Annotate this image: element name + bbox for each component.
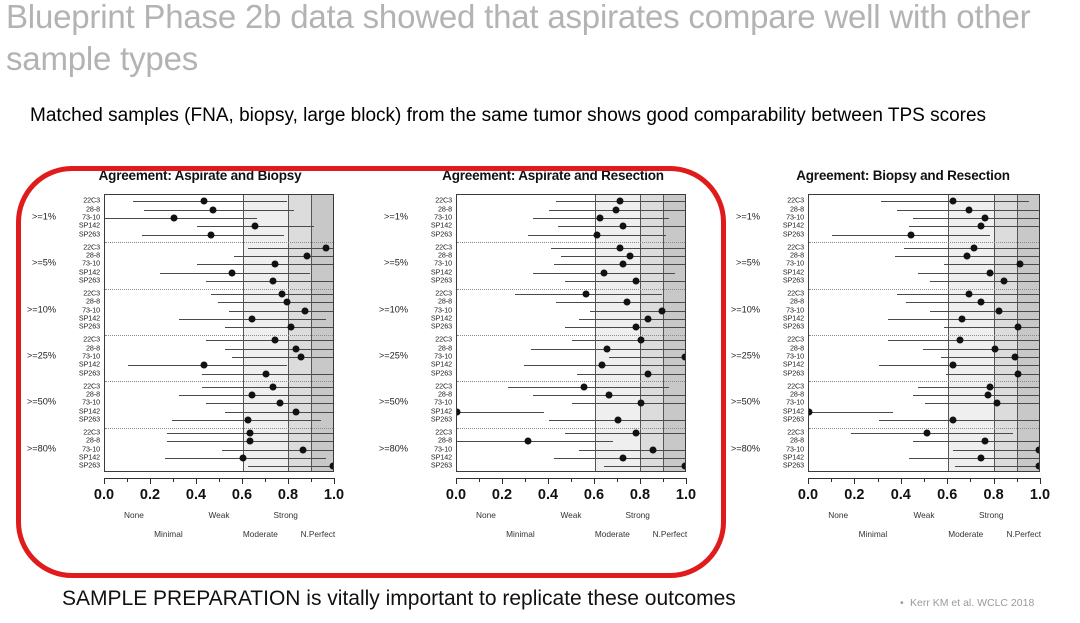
confidence-interval-line (206, 340, 334, 341)
assay-label: 73-10 (58, 399, 100, 406)
axis-tick-minor (127, 478, 128, 482)
confidence-interval-line (248, 248, 334, 249)
assay-label: SP263 (58, 323, 100, 330)
assay-label: 28-8 (762, 344, 804, 351)
confidence-interval-line (909, 226, 1040, 227)
estimate-point (596, 214, 603, 221)
estimate-point (991, 345, 998, 352)
assay-label: SP142 (58, 268, 100, 275)
estimate-point (1012, 353, 1019, 360)
plot-area (456, 194, 686, 472)
axis-tick-label: 0.4 (891, 487, 911, 503)
group-separator (809, 242, 1039, 243)
moderate-band (948, 195, 994, 471)
estimate-point (246, 438, 253, 445)
assay-label: SP263 (410, 369, 452, 376)
estimate-point (619, 261, 626, 268)
axis-tick-label: 0.0 (798, 487, 818, 503)
chart-panel-1: Agreement: Aspirate and Biopsy22C328-873… (20, 168, 380, 568)
confidence-interval-line (577, 374, 686, 375)
assay-label: 73-10 (762, 399, 804, 406)
assay-label: 73-10 (410, 213, 452, 220)
axis-tick-label: 0.8 (630, 487, 650, 503)
confidence-interval-line (508, 387, 669, 388)
axis-tick-label: 0.4 (186, 487, 206, 503)
confidence-interval-line (211, 294, 334, 295)
estimate-point (580, 383, 587, 390)
confidence-interval-line (197, 264, 334, 265)
axis-tick-minor (617, 478, 618, 482)
assay-label: 73-10 (762, 213, 804, 220)
estimate-point (603, 345, 610, 352)
confidence-interval-line (234, 256, 334, 257)
estimate-point (982, 438, 989, 445)
confidence-interval-line (579, 450, 686, 451)
estimate-point (963, 252, 970, 259)
axis-tick-label: 0.6 (937, 487, 957, 503)
assay-label: 28-8 (58, 344, 100, 351)
estimate-point (1035, 463, 1040, 470)
confidence-interval-line (930, 281, 1040, 282)
axis-tick-major (502, 478, 503, 484)
panel-title: Agreement: Aspirate and Biopsy (20, 168, 380, 183)
assay-label: SP263 (410, 415, 452, 422)
estimate-point (615, 416, 622, 423)
estimate-point (612, 206, 619, 213)
confidence-interval-line (944, 327, 1040, 328)
assay-label: 22C3 (58, 289, 100, 296)
assay-label: 28-8 (410, 437, 452, 444)
confidence-interval-line (930, 311, 1040, 312)
agreement-category-label: None (828, 510, 848, 520)
confidence-interval-line (202, 387, 334, 388)
assay-label: 22C3 (410, 382, 452, 389)
confidence-interval-line (879, 365, 1040, 366)
estimate-point (644, 370, 651, 377)
confidence-interval-line (248, 466, 334, 467)
axis-tick-major (196, 478, 197, 484)
estimate-point (292, 345, 299, 352)
agreement-category-label: Moderate (243, 529, 278, 539)
agreement-category-label: None (124, 510, 144, 520)
confidence-interval-line (913, 218, 1040, 219)
estimate-point (329, 463, 334, 470)
assay-label: SP263 (58, 462, 100, 469)
confidence-interval-line (225, 349, 334, 350)
estimate-point (601, 269, 608, 276)
estimate-point (982, 214, 989, 221)
assay-label: SP142 (58, 222, 100, 229)
estimate-point (200, 362, 207, 369)
estimate-point (633, 324, 640, 331)
near-perfect-band (1018, 195, 1040, 471)
estimate-point (456, 408, 461, 415)
confidence-interval-line (609, 357, 686, 358)
agreement-category-label: Strong (979, 510, 1003, 520)
assay-label: 22C3 (762, 336, 804, 343)
estimate-point (959, 315, 966, 322)
assay-label: 73-10 (410, 306, 452, 313)
confidence-interval-line (923, 349, 1040, 350)
assay-label: SP263 (762, 230, 804, 237)
estimate-point (1017, 261, 1024, 268)
group-separator (809, 428, 1039, 429)
confidence-interval-line (604, 466, 686, 467)
axis-tick-minor (663, 478, 664, 482)
assay-label: 22C3 (410, 197, 452, 204)
confidence-interval-line (925, 403, 1040, 404)
axis-tick-major (994, 478, 995, 484)
assay-label: 73-10 (410, 260, 452, 267)
assay-label: 28-8 (58, 390, 100, 397)
assay-label: 73-10 (762, 306, 804, 313)
estimate-point (949, 416, 956, 423)
estimate-point (228, 269, 235, 276)
assay-label: SP263 (762, 276, 804, 283)
assay-label: 73-10 (762, 352, 804, 359)
estimate-point (986, 383, 993, 390)
group-separator (809, 381, 1039, 382)
assay-label: SP263 (762, 323, 804, 330)
assay-label: SP142 (762, 453, 804, 460)
estimate-point (1014, 370, 1021, 377)
axis-tick-label: 1.0 (324, 487, 344, 503)
group-separator (457, 242, 685, 243)
panel-title: Agreement: Aspirate and Resection (378, 168, 728, 183)
axis-tick-label: 1.0 (676, 487, 696, 503)
group-separator (457, 289, 685, 290)
estimate-point (977, 299, 984, 306)
axis-tick-major (288, 478, 289, 484)
estimate-point (272, 337, 279, 344)
cutoff-group-label: >=80% (716, 444, 760, 453)
group-separator (105, 335, 333, 336)
confidence-interval-line (218, 302, 334, 303)
assay-label: 28-8 (762, 205, 804, 212)
agreement-category-label: None (476, 510, 496, 520)
axis-tick-major (334, 478, 335, 484)
page-title: Blueprint Phase 2b data showed that aspi… (6, 0, 1076, 80)
assay-label: 22C3 (58, 197, 100, 204)
assay-label: SP142 (410, 453, 452, 460)
cutoff-group-label: >=10% (716, 305, 760, 314)
assay-label: 22C3 (762, 289, 804, 296)
cutoff-group-label: >=25% (716, 351, 760, 360)
assay-label: 22C3 (58, 382, 100, 389)
cutoff-group-label: >=50% (364, 398, 408, 407)
assay-label: 28-8 (58, 205, 100, 212)
agreement-category-label: Minimal (506, 529, 535, 539)
bullet-icon: • (900, 596, 910, 610)
near-perfect-band (312, 195, 334, 471)
estimate-point (279, 290, 286, 297)
assay-label: 73-10 (410, 399, 452, 406)
estimate-point (633, 277, 640, 284)
estimate-point (966, 290, 973, 297)
assay-label: 28-8 (58, 251, 100, 258)
estimate-point (977, 223, 984, 230)
estimate-point (246, 429, 253, 436)
confidence-interval-line (144, 210, 294, 211)
cutoff-group-label: >=80% (364, 444, 408, 453)
axis-tick-major (854, 478, 855, 484)
assay-label: 22C3 (410, 428, 452, 435)
agreement-category-label: N.Perfect (653, 529, 688, 539)
estimate-point (249, 315, 256, 322)
estimate-point (949, 198, 956, 205)
axis-tick-minor (831, 478, 832, 482)
assay-label: 28-8 (410, 298, 452, 305)
agreement-category-label: Weak (560, 510, 581, 520)
estimate-point (649, 446, 656, 453)
plot-area (808, 194, 1040, 472)
estimate-point (288, 324, 295, 331)
estimate-point (582, 290, 589, 297)
assay-label: 28-8 (58, 437, 100, 444)
confidence-interval-line (944, 264, 1040, 265)
confidence-interval-line (851, 433, 1013, 434)
axis-tick-label: 0.8 (984, 487, 1004, 503)
agreement-category-label: N.Perfect (301, 529, 336, 539)
assay-label: SP263 (410, 323, 452, 330)
estimate-point (949, 362, 956, 369)
assay-label: SP142 (762, 222, 804, 229)
axis-tick-minor (311, 478, 312, 482)
confidence-interval-line (572, 403, 686, 404)
axis-tick-minor (571, 478, 572, 482)
confidence-interval-line (913, 441, 1040, 442)
confidence-interval-line (918, 273, 1040, 274)
assay-label: 73-10 (58, 213, 100, 220)
confidence-interval-line (232, 357, 335, 358)
chart-panel-3: Agreement: Biopsy and Resection22C328-87… (728, 168, 1078, 568)
assay-label: SP142 (58, 314, 100, 321)
estimate-point (638, 400, 645, 407)
assay-label: 22C3 (58, 428, 100, 435)
assay-label: SP142 (58, 361, 100, 368)
group-separator (105, 428, 333, 429)
estimate-point (605, 391, 612, 398)
confidence-interval-line (953, 450, 1040, 451)
cutoff-group-label: >=25% (364, 351, 408, 360)
axis-tick-label: 0.0 (446, 487, 466, 503)
assay-label: SP263 (410, 276, 452, 283)
confidence-interval-line (579, 319, 686, 320)
axis-tick-minor (924, 478, 925, 482)
confidence-interval-line (590, 311, 686, 312)
confidence-interval-line (906, 302, 1040, 303)
estimate-point (966, 206, 973, 213)
estimate-point (1035, 446, 1040, 453)
axis-tick-minor (878, 478, 879, 482)
axis-tick-label: 0.0 (94, 487, 114, 503)
near-perfect-band (664, 195, 686, 471)
axis-tick-label: 1.0 (1030, 487, 1050, 503)
confidence-interval-line (105, 218, 257, 219)
axis-tick-major (1040, 478, 1041, 484)
confidence-interval-line (918, 387, 1040, 388)
assay-label: SP142 (410, 314, 452, 321)
agreement-category-label: N.Perfect (1006, 529, 1041, 539)
group-separator (809, 335, 1039, 336)
confidence-interval-line (222, 450, 334, 451)
confidence-interval-line (179, 395, 334, 396)
assay-label: SP263 (58, 415, 100, 422)
agreement-category-label: Minimal (154, 529, 183, 539)
assay-label: 28-8 (58, 298, 100, 305)
axis-tick-label: 0.6 (232, 487, 252, 503)
strong-band (641, 195, 664, 471)
assay-label: 28-8 (410, 344, 452, 351)
group-separator (809, 289, 1039, 290)
panel-title: Agreement: Biopsy and Resection (728, 168, 1078, 183)
estimate-point (299, 446, 306, 453)
estimate-point (200, 198, 207, 205)
estimate-point (171, 214, 178, 221)
assay-label: 28-8 (762, 298, 804, 305)
axis-tick-label: 0.6 (584, 487, 604, 503)
estimate-point (322, 244, 329, 251)
assay-label: 73-10 (762, 445, 804, 452)
estimate-point (908, 231, 915, 238)
group-separator (457, 335, 685, 336)
confidence-interval-line (888, 340, 1040, 341)
assay-label: SP142 (762, 314, 804, 321)
cutoff-group-label: >=10% (12, 305, 56, 314)
confidence-interval-line (913, 395, 1040, 396)
assay-label: SP263 (762, 462, 804, 469)
estimate-point (984, 391, 991, 398)
estimate-point (681, 463, 686, 470)
assay-label: SP142 (762, 361, 804, 368)
confidence-interval-line (225, 327, 334, 328)
axis-tick-major (456, 478, 457, 484)
estimate-point (626, 252, 633, 259)
slide-subtitle: Matched samples (FNA, biopsy, large bloc… (30, 102, 1070, 129)
cutoff-group-label: >=10% (364, 305, 408, 314)
estimate-point (681, 353, 686, 360)
confidence-interval-line (133, 201, 287, 202)
axis-tick-major (901, 478, 902, 484)
cutoff-group-label: >=25% (12, 351, 56, 360)
axis-tick-major (686, 478, 687, 484)
confidence-interval-line (229, 311, 334, 312)
confidence-interval-line (809, 412, 893, 413)
confidence-interval-line (556, 302, 686, 303)
assay-label: 73-10 (410, 445, 452, 452)
estimate-point (1000, 277, 1007, 284)
confidence-interval-line (946, 374, 1040, 375)
axis-tick-major (594, 478, 595, 484)
agreement-category-label: Minimal (859, 529, 888, 539)
estimate-point (619, 454, 626, 461)
axis-tick-minor (173, 478, 174, 482)
strong-band (995, 195, 1018, 471)
estimate-point (624, 299, 631, 306)
estimate-point (977, 454, 984, 461)
assay-label: 22C3 (410, 243, 452, 250)
assay-label: 22C3 (762, 197, 804, 204)
confidence-interval-line (565, 281, 686, 282)
assay-label: 28-8 (410, 390, 452, 397)
cutoff-group-label: >=1% (364, 212, 408, 221)
estimate-point (633, 429, 640, 436)
confidence-interval-line (457, 441, 613, 442)
estimate-point (276, 400, 283, 407)
cutoff-group-label: >=1% (716, 212, 760, 221)
estimate-point (996, 307, 1003, 314)
estimate-point (594, 231, 601, 238)
axis-tick-label: 0.2 (844, 487, 864, 503)
confidence-interval-line (565, 327, 686, 328)
assay-label: SP263 (762, 415, 804, 422)
axis-tick-minor (970, 478, 971, 482)
axis-tick-label: 0.2 (492, 487, 512, 503)
confidence-interval-line (225, 412, 334, 413)
group-separator (105, 242, 333, 243)
estimate-point (808, 408, 813, 415)
assay-label: 73-10 (762, 260, 804, 267)
estimate-point (525, 438, 532, 445)
assay-label: 22C3 (762, 428, 804, 435)
citation: •Kerr KM et al. WCLC 2018 (900, 596, 1075, 610)
assay-label: SP142 (762, 268, 804, 275)
assay-label: 73-10 (410, 352, 452, 359)
cutoff-group-label: >=1% (12, 212, 56, 221)
assay-label: SP142 (410, 222, 452, 229)
axis-tick-minor (265, 478, 266, 482)
confidence-interval-line (572, 340, 686, 341)
forest-plot-figure: Agreement: Aspirate and Biopsy22C328-873… (0, 168, 1080, 568)
cutoff-group-label: >=80% (12, 444, 56, 453)
confidence-interval-line (206, 403, 334, 404)
cutoff-group-label: >=50% (12, 398, 56, 407)
assay-label: 22C3 (410, 336, 452, 343)
estimate-point (986, 269, 993, 276)
axis-tick-major (150, 478, 151, 484)
estimate-point (283, 299, 290, 306)
estimate-point (297, 353, 304, 360)
assay-label: 22C3 (410, 289, 452, 296)
chart-panel-2: Agreement: Aspirate and Resection22C328-… (378, 168, 728, 568)
assay-label: SP263 (58, 369, 100, 376)
assay-label: 22C3 (762, 382, 804, 389)
agreement-category-label: Weak (913, 510, 934, 520)
plot-area (104, 194, 334, 472)
assay-label: SP142 (58, 407, 100, 414)
cutoff-group-label: >=50% (716, 398, 760, 407)
citation-text: Kerr KM et al. WCLC 2018 (910, 597, 1034, 609)
estimate-point (619, 223, 626, 230)
estimate-point (924, 429, 931, 436)
assay-label: 28-8 (410, 205, 452, 212)
axis-tick-minor (479, 478, 480, 482)
cutoff-group-label: >=5% (716, 259, 760, 268)
assay-label: SP263 (58, 276, 100, 283)
estimate-point (1014, 324, 1021, 331)
estimate-point (598, 362, 605, 369)
estimate-point (302, 307, 309, 314)
cutoff-group-label: >=5% (364, 259, 408, 268)
estimate-point (244, 416, 251, 423)
assay-label: 28-8 (410, 251, 452, 258)
confidence-interval-line (955, 466, 1040, 467)
axis-tick-major (808, 478, 809, 484)
assay-label: SP263 (58, 230, 100, 237)
axis-tick-major (104, 478, 105, 484)
assay-label: 22C3 (58, 243, 100, 250)
confidence-interval-line (565, 433, 686, 434)
